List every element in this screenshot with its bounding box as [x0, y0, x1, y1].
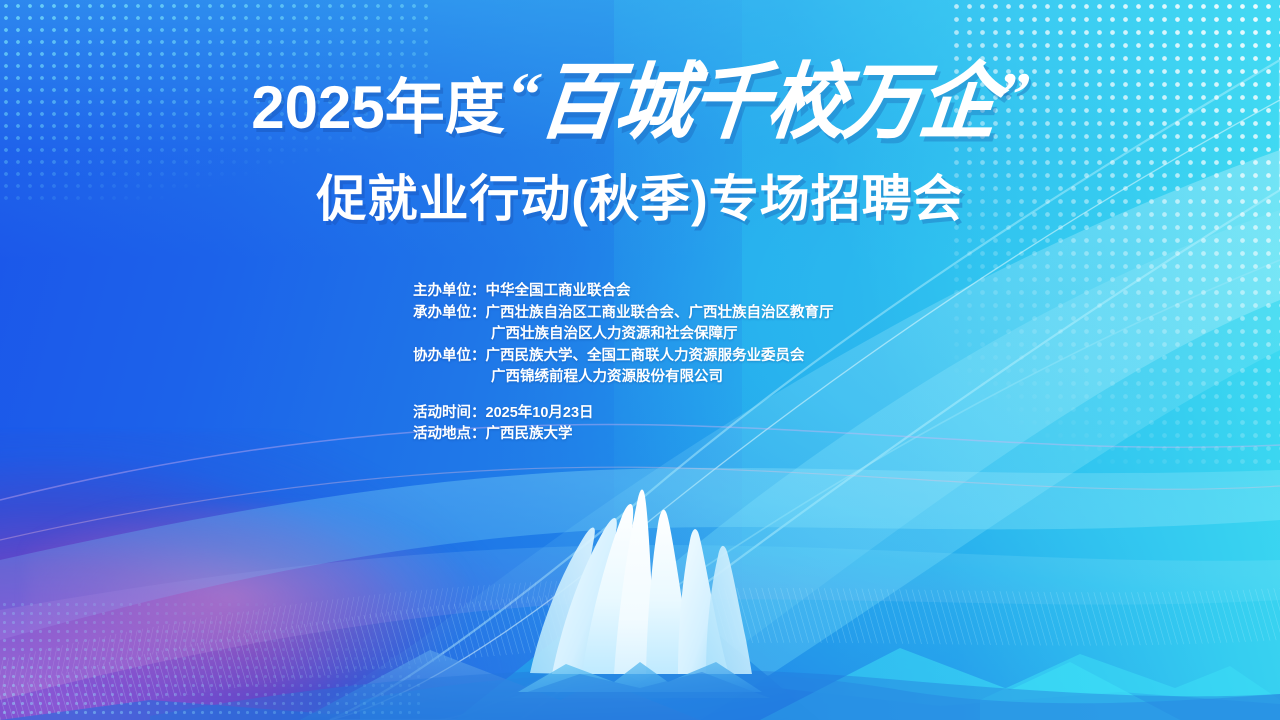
organizer-value-coorganizer: 广西壮族自治区工商业联合会、广西壮族自治区教育厅 — [486, 303, 834, 325]
organizer-value-host: 中华全国工商业联合会 — [486, 281, 631, 303]
organizer-row-host: 主办单位： 中华全国工商业联合会 — [413, 281, 834, 303]
detail-row-location: 活动地点： 广西民族大学 — [413, 424, 834, 446]
organizer-label-host: 主办单位： — [413, 281, 486, 303]
poster-content: 2025年度 “ 百城千校万企 ” 促就业行动(秋季)专场招聘会 主办单位： 中… — [0, 0, 1280, 720]
organizer-value-coorganizer-line2: 广西壮族自治区人力资源和社会保障厅 — [413, 324, 834, 346]
detail-label-location: 活动地点： — [413, 424, 486, 446]
title-year: 2025年度 — [251, 78, 504, 138]
organizer-row-supporter: 协办单位： 广西民族大学、全国工商联人力资源服务业委员会 — [413, 346, 834, 368]
detail-row-time: 活动时间： 2025年10月23日 — [413, 403, 834, 425]
main-title: 2025年度 “ 百城千校万企 ” — [0, 62, 1280, 140]
organizer-row-coorganizer: 承办单位： 广西壮族自治区工商业联合会、广西壮族自治区教育厅 — [413, 303, 834, 325]
info-block: 主办单位： 中华全国工商业联合会 承办单位： 广西壮族自治区工商业联合会、广西壮… — [413, 281, 834, 446]
title-brush-text: 百城千校万企 — [535, 62, 1000, 145]
detail-label-time: 活动时间： — [413, 403, 486, 425]
detail-value-location: 广西民族大学 — [486, 424, 573, 446]
organizer-label-coorganizer: 承办单位： — [413, 303, 486, 325]
info-spacer — [413, 389, 834, 403]
poster-canvas: 2025年度 “ 百城千校万企 ” 促就业行动(秋季)专场招聘会 主办单位： 中… — [0, 0, 1280, 720]
detail-value-time: 2025年10月23日 — [486, 403, 594, 425]
organizer-label-supporter: 协办单位： — [413, 346, 486, 368]
organizer-value-supporter: 广西民族大学、全国工商联人力资源服务业委员会 — [486, 346, 805, 368]
poster-subtitle: 促就业行动(秋季)专场招聘会 — [0, 172, 1280, 227]
organizer-value-supporter-line2: 广西锦绣前程人力资源股份有限公司 — [413, 367, 834, 389]
